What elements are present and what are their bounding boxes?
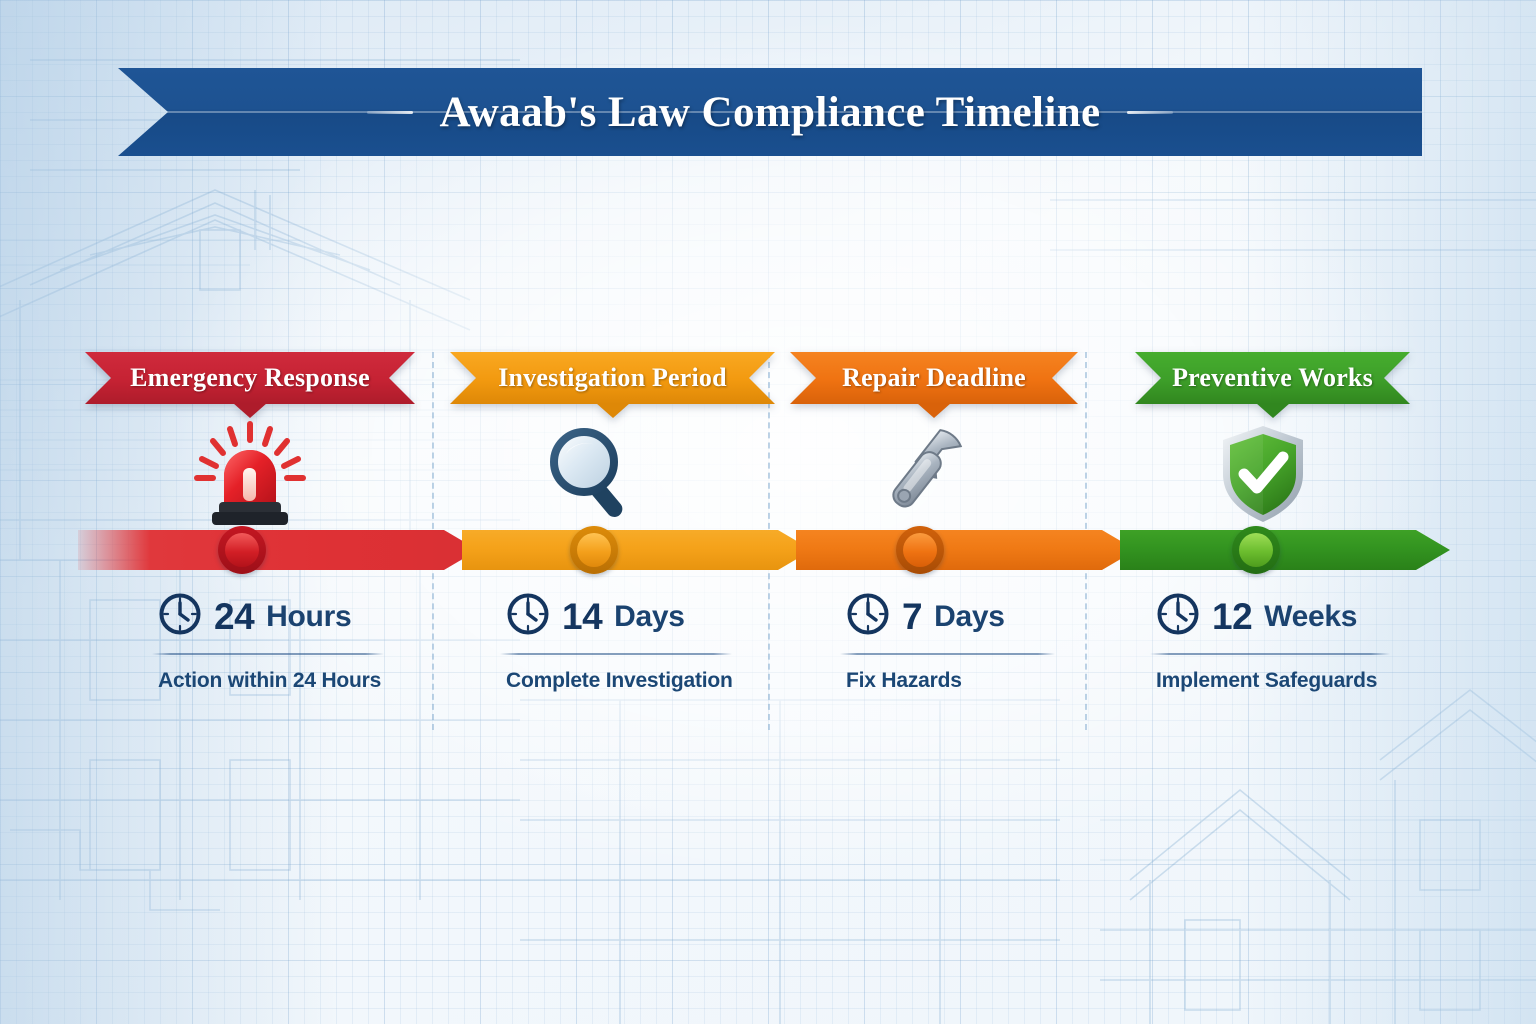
stage-footer-preventive-works: 12 Weeks Implement Safeguards	[1150, 592, 1390, 712]
timeline-node	[218, 526, 266, 574]
stage-banner-repair-deadline[interactable]: Repair Deadline	[790, 352, 1078, 404]
clock-icon	[1156, 592, 1200, 641]
footer-divider	[840, 653, 1055, 655]
wrench-icon	[862, 418, 982, 528]
duration-unit: Days	[614, 600, 685, 634]
timeline-node	[570, 526, 618, 574]
footer-divider	[500, 653, 732, 655]
timeline-arrow-segment-3	[796, 530, 1136, 570]
stage-footer-repair-deadline: 7 Days Fix Hazards	[840, 592, 1055, 712]
duration-value: 12	[1212, 596, 1252, 638]
timeline-arrow-segment-4	[1120, 530, 1450, 570]
stage-description: Complete Investigation	[500, 669, 732, 693]
title-left-rule-icon	[367, 111, 413, 114]
stage-label: Emergency Response	[130, 363, 370, 393]
clock-icon	[506, 592, 550, 641]
page-title: Awaab's Law Compliance Timeline	[439, 88, 1100, 137]
duration-unit: Days	[934, 600, 1005, 634]
stage-footer-investigation-period: 14 Days Complete Investigation	[500, 592, 732, 712]
timeline: Emergency Response	[0, 330, 1536, 730]
duration-value: 7	[902, 596, 922, 638]
timeline-node	[1232, 526, 1280, 574]
magnifying-glass-icon	[535, 418, 655, 528]
duration-unit: Hours	[266, 600, 351, 634]
stage-label: Repair Deadline	[842, 363, 1026, 393]
shield-check-icon	[1203, 418, 1323, 528]
clock-icon	[846, 592, 890, 641]
duration-value: 24	[214, 596, 254, 638]
timeline-arrow-segment-2	[462, 530, 812, 570]
stage-banner-investigation-period[interactable]: Investigation Period	[450, 352, 775, 404]
stage-description: Fix Hazards	[840, 669, 1055, 693]
infographic-canvas: Awaab's Law Compliance Timeline Emergenc…	[0, 0, 1536, 1024]
timeline-arrow-segment-1	[78, 530, 478, 570]
stage-banner-preventive-works[interactable]: Preventive Works	[1135, 352, 1410, 404]
title-banner: Awaab's Law Compliance Timeline	[118, 68, 1422, 156]
stage-footer-emergency-response: 24 Hours Action within 24 Hours	[152, 592, 384, 712]
title-right-rule-icon	[1127, 111, 1173, 114]
footer-divider	[1150, 653, 1390, 655]
stage-description: Action within 24 Hours	[152, 669, 384, 693]
stage-label: Investigation Period	[498, 363, 727, 393]
stage-description: Implement Safeguards	[1150, 669, 1390, 693]
duration-value: 14	[562, 596, 602, 638]
timeline-node	[896, 526, 944, 574]
stage-label: Preventive Works	[1172, 363, 1373, 393]
footer-divider	[152, 653, 384, 655]
clock-icon	[158, 592, 202, 641]
duration-unit: Weeks	[1264, 600, 1357, 634]
stage-banner-emergency-response[interactable]: Emergency Response	[85, 352, 415, 404]
emergency-siren-icon	[190, 418, 310, 528]
